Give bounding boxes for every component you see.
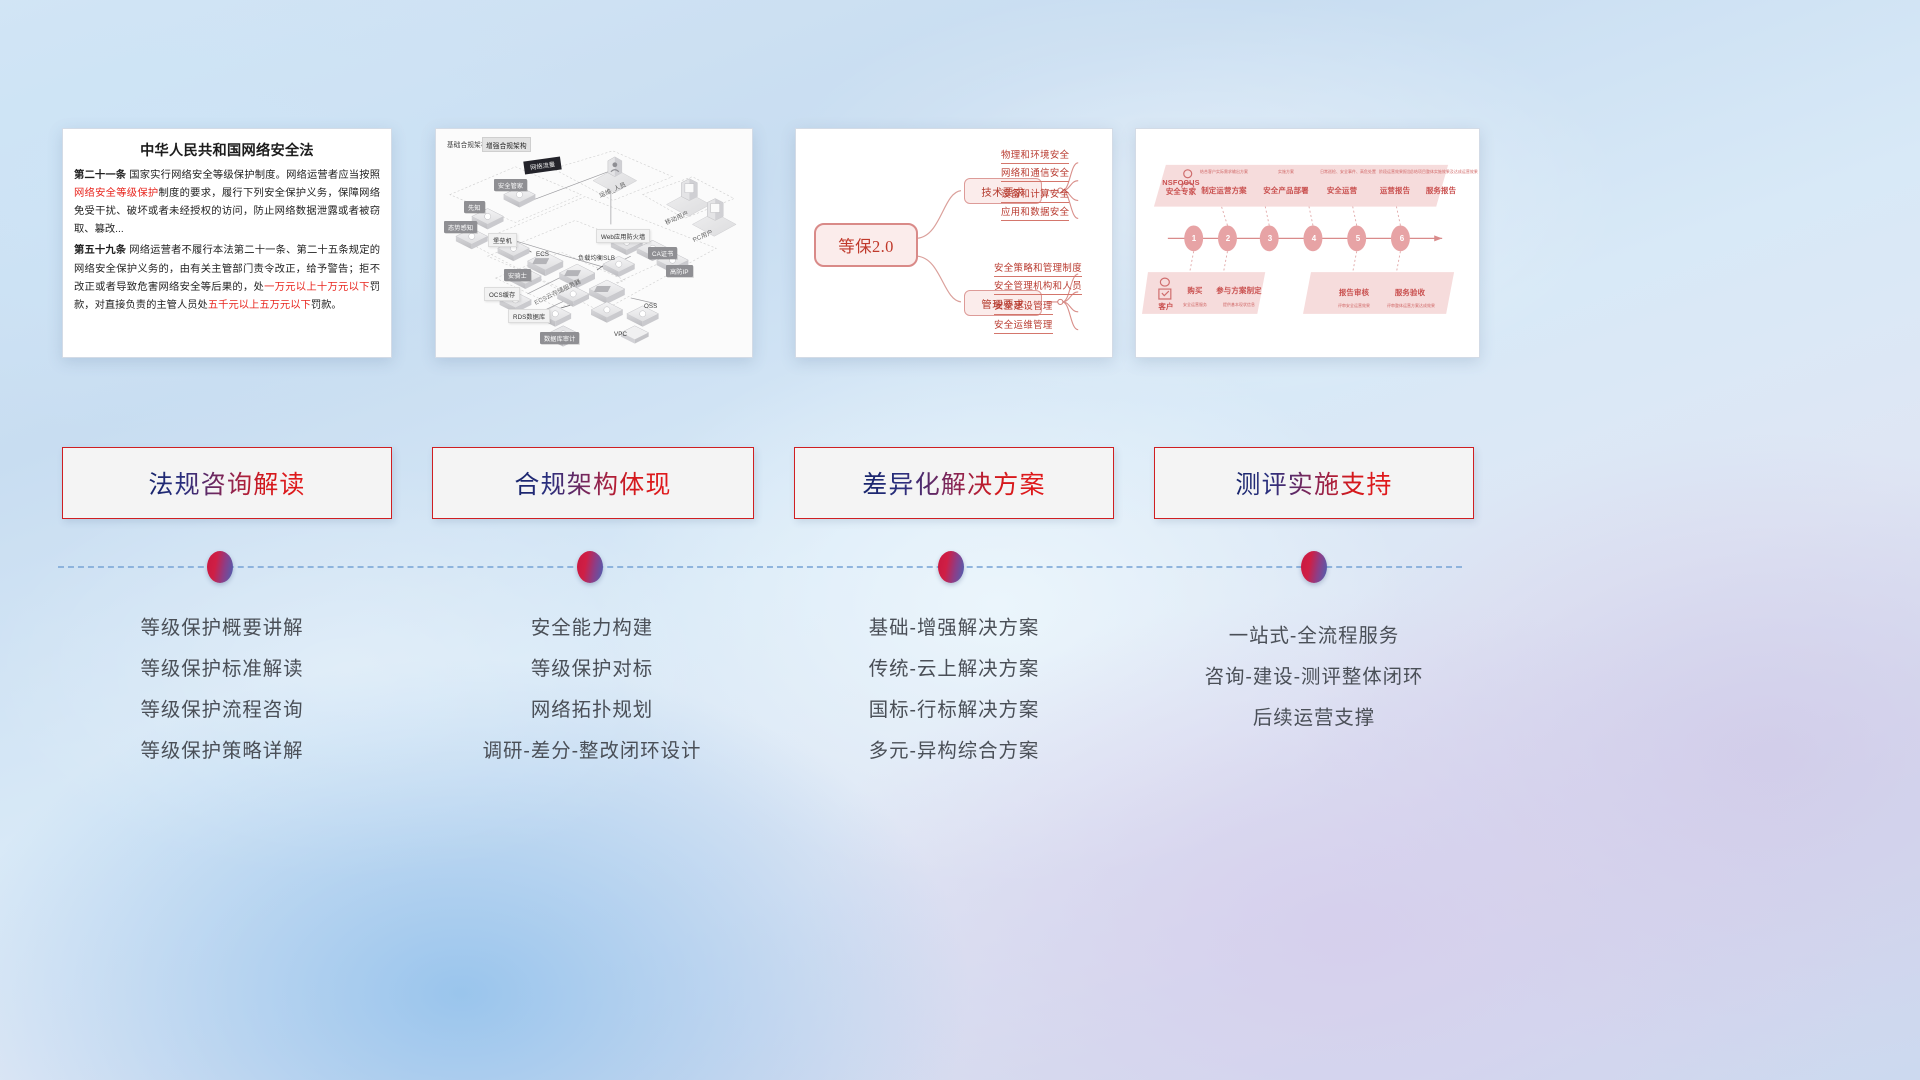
nsfocus-top-title-5: 服务报告 [1414,185,1468,196]
nsfocus-step-1: 1 [1187,234,1201,243]
column-list-2: 安全能力构建 等级保护对标 网络拓扑规划 调研-差分-整改闭环设计 [427,608,757,772]
law-p2-text-c: 罚款。 [311,300,342,311]
arch-tab-enhanced[interactable]: 增强合规架构 [482,137,531,152]
law-article-number-59: 第五十九条 [74,245,126,256]
slide-stage: 中华人民共和国网络安全法 第二十一条 国家实行网络安全等级保护制度。网络运营者应… [0,0,1920,1080]
arch-label-ca-cert: CA证书 [648,247,677,259]
nsfocus-bot-caption-2: 提供基本现状信息 [1214,302,1264,308]
column-header-1[interactable]: 法规咨询解读 [62,447,392,519]
nsfocus-top-title-1: 制定运营方案 [1188,185,1260,196]
column-header-1-label: 法规咨询解读 [148,465,305,501]
list-item: 后续运营支撑 [1149,698,1479,739]
mindmap-leaf-tech-2: 网络和通信安全 [1001,165,1069,182]
list-item: 等级保护策略详解 [57,731,387,772]
column-list-4: 一站式-全流程服务 咨询-建设-测评整体闭环 后续运营支撑 [1149,616,1479,739]
list-item: 基础-增强解决方案 [789,608,1119,649]
list-item: 安全能力构建 [427,608,757,649]
card-nsfocus-service-flow[interactable]: NSFOCUS 安全专家 结合客户实际需求输出方案 制定运营方案 实施方案 安全… [1135,128,1480,358]
arch-label-anqishi: 安骑士 [504,269,531,281]
list-item: 等级保护概要讲解 [57,608,387,649]
nsfocus-inner-frame: NSFOCUS 安全专家 结合客户实际需求输出方案 制定运营方案 实施方案 安全… [1142,135,1473,351]
nsfocus-top-title-2: 安全产品部署 [1252,185,1320,196]
mindmap-root-node[interactable]: 等保2.0 [814,223,918,267]
column-list-3: 基础-增强解决方案 传统-云上解决方案 国标-行标解决方案 多元-异构综合方案 [789,608,1119,772]
law-title: 中华人民共和国网络安全法 [74,140,380,160]
list-item: 国标-行标解决方案 [789,690,1119,731]
architecture-diagram-canvas [436,129,752,358]
column-header-4-label: 测评实施支持 [1235,465,1392,501]
arch-label-slb: 负载均衡SLB [578,253,615,262]
list-item: 调研-差分-整改闭环设计 [427,731,757,772]
mindmap-leaf-tech-4: 应用和数据安全 [1001,204,1069,221]
nsfocus-bot-caption-4: 评审整体运营方案达成效果 [1380,303,1442,309]
timeline-dot-3[interactable] [938,551,964,583]
list-item: 等级保护对标 [427,649,757,690]
arch-label-waf: Web应用防火墙 [596,229,650,243]
nsfocus-top-caption-1: 结合客户实际需求输出方案 [1188,169,1260,175]
nsfocus-bot-title-1: 购买 [1178,285,1212,296]
list-item: 传统-云上解决方案 [789,649,1119,690]
law-article-number-21: 第二十一条 [74,170,126,181]
list-item: 等级保护流程咨询 [57,690,387,731]
list-item: 等级保护标准解读 [57,649,387,690]
nsfocus-top-title-3: 安全运营 [1314,185,1370,196]
mindmap-leaf-mgmt-2: 安全管理机构和人员 [994,278,1082,295]
nsfocus-bot-title-2: 参与方案制定 [1210,285,1268,296]
timeline-dot-2[interactable] [577,551,603,583]
arch-label-ocs-cache: OCS缓存 [484,287,520,301]
arch-label-xianzhi: 先知 [464,201,485,213]
arch-label-bastion-host: 堡垒机 [488,233,517,247]
arch-label-situational-awareness: 态势感知 [444,221,477,233]
law-paragraph-21: 第二十一条 国家实行网络安全等级保护制度。网络运营者应当按照网络安全等级保护制度… [74,167,380,239]
mindmap-leaf-mgmt-3: 安全建设管理 [994,298,1053,315]
timeline-dot-1[interactable] [207,551,233,583]
arch-label-rds-database: RDS数据库 [508,309,550,323]
arch-label-vpc: VPC [614,331,627,338]
law-p1-text-a: 国家实行网络安全等级保护制度。网络运营者应当按照 [126,170,380,181]
mindmap-leaf-tech-3: 设备和计算安全 [1001,186,1069,203]
nsfocus-bot-caption-1: 安全运营服务 [1174,302,1216,308]
law-p1-highlight: 网络安全等级保护 [74,188,159,199]
column-header-3[interactable]: 差异化解决方案 [794,447,1114,519]
column-header-2-label: 合规架构体现 [514,465,671,501]
nsfocus-step-2: 2 [1221,234,1235,243]
list-item: 网络拓扑规划 [427,690,757,731]
column-header-4[interactable]: 测评实施支持 [1154,447,1474,519]
arch-label-ecs: ECS [536,251,549,258]
mindmap-root-label: 等保2.0 [838,233,894,257]
timeline-dashed-line [58,566,1462,568]
column-header-3-label: 差异化解决方案 [862,465,1045,501]
nsfocus-bot-title-3: 报告审核 [1330,287,1378,298]
list-item: 咨询-建设-测评整体闭环 [1149,657,1479,698]
mindmap-leaf-mgmt-1: 安全策略和管理制度 [994,260,1082,277]
arch-label-security-butler: 安全管家 [494,179,527,191]
nsfocus-step-6: 6 [1395,234,1409,243]
card-cybersecurity-law[interactable]: 中华人民共和国网络安全法 第二十一条 国家实行网络安全等级保护制度。网络运营者应… [62,128,392,358]
nsfocus-top-caption-2: 实施方案 [1260,169,1312,175]
nsfocus-top-caption-5: 总结项目整体实施效果及达成运营效果 [1410,169,1474,175]
nsfocus-flow-canvas [1142,135,1473,352]
nsfocus-step-3: 3 [1263,234,1277,243]
column-list-1: 等级保护概要讲解 等级保护标准解读 等级保护流程咨询 等级保护策略详解 [57,608,387,772]
nsfocus-step-4: 4 [1307,234,1321,243]
column-header-2[interactable]: 合规架构体现 [432,447,754,519]
list-item: 一站式-全流程服务 [1149,616,1479,657]
law-p2-highlight-1: 一万元以上十万元以下 [264,282,370,293]
timeline-dot-4[interactable] [1301,551,1327,583]
law-p2-highlight-2: 五千元以上五万元以下 [208,300,311,311]
law-paragraph-59: 第五十九条 网络运营者不履行本法第二十一条、第二十五条规定的网络安全保护义务的，… [74,242,380,314]
list-item: 多元-异构综合方案 [789,731,1119,772]
mindmap-leaf-mgmt-4: 安全运维管理 [994,317,1053,334]
arch-label-anti-ddos-ip: 高防IP [666,265,693,277]
arch-label-db-audit: 数据库审计 [540,332,579,344]
nsfocus-bot-title-4: 服务验收 [1386,287,1434,298]
arch-label-oss: OSS [644,303,657,310]
card-mindmap-dengbao[interactable]: 等保2.0 技术要求 管理要求 物理和环境安全 网络和通信安全 设备和计算安全 … [795,128,1113,358]
mindmap-leaf-tech-1: 物理和环境安全 [1001,147,1069,164]
card-compliance-architecture[interactable]: 基础合规架构 增强合规架构 网络流量 安全管家 先知 态势感知 堡垒机 安骑士 … [435,128,753,358]
nsfocus-bot-caption-3: 评审安全运营效果 [1328,303,1380,309]
nsfocus-step-5: 5 [1351,234,1365,243]
